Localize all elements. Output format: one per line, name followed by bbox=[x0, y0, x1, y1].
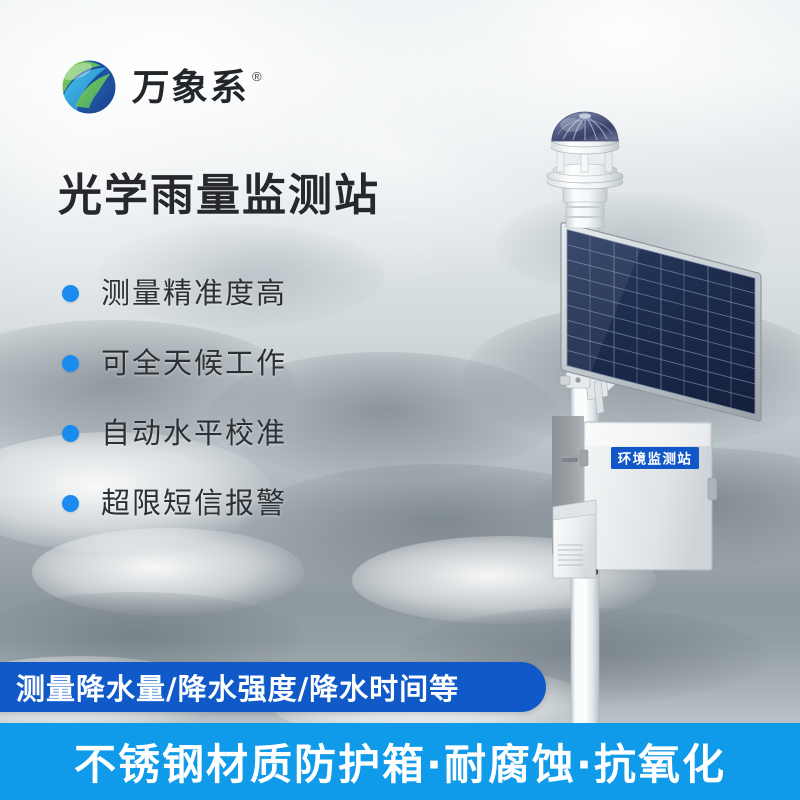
feature-label: 可全天候工作 bbox=[101, 349, 287, 378]
feature-list: 测量精准度高 可全天候工作 自动水平校准 超限短信报警 bbox=[62, 258, 287, 538]
feature-item: 测量精准度高 bbox=[62, 258, 287, 328]
feature-label: 超限短信报警 bbox=[101, 489, 287, 518]
product-title: 光学雨量监测站 bbox=[58, 172, 380, 220]
bottom-bar-label: 不锈钢材质防护箱·耐腐蚀·抗氧化 bbox=[74, 731, 726, 792]
vent-box bbox=[553, 500, 596, 578]
cabinet-label: 环境监测站 bbox=[618, 451, 693, 468]
bullet-dot-icon bbox=[62, 285, 79, 302]
feature-label: 自动水平校准 bbox=[101, 419, 287, 448]
product-poster: 环境监测站 bbox=[0, 0, 800, 800]
pill-banner-label: 测量降水量/降水强度/降水时间等 bbox=[16, 666, 459, 708]
optical-rain-sensor bbox=[547, 112, 623, 228]
feature-item: 超限短信报警 bbox=[62, 468, 287, 538]
bullet-dot-icon bbox=[62, 425, 79, 442]
brand-logo: 万象系 ® bbox=[58, 56, 262, 118]
globe-swoosh-logo-icon bbox=[58, 56, 120, 118]
brand-name: 万象系 bbox=[131, 69, 249, 106]
pill-banner: 测量降水量/降水强度/降水时间等 bbox=[0, 662, 546, 712]
feature-item: 可全天候工作 bbox=[62, 328, 287, 398]
bullet-dot-icon bbox=[62, 355, 79, 372]
feature-label: 测量精准度高 bbox=[101, 279, 287, 308]
registered-trademark-icon: ® bbox=[252, 70, 262, 83]
bullet-dot-icon bbox=[62, 495, 79, 512]
bottom-bar: 不锈钢材质防护箱·耐腐蚀·抗氧化 bbox=[0, 723, 800, 800]
feature-item: 自动水平校准 bbox=[62, 398, 287, 468]
